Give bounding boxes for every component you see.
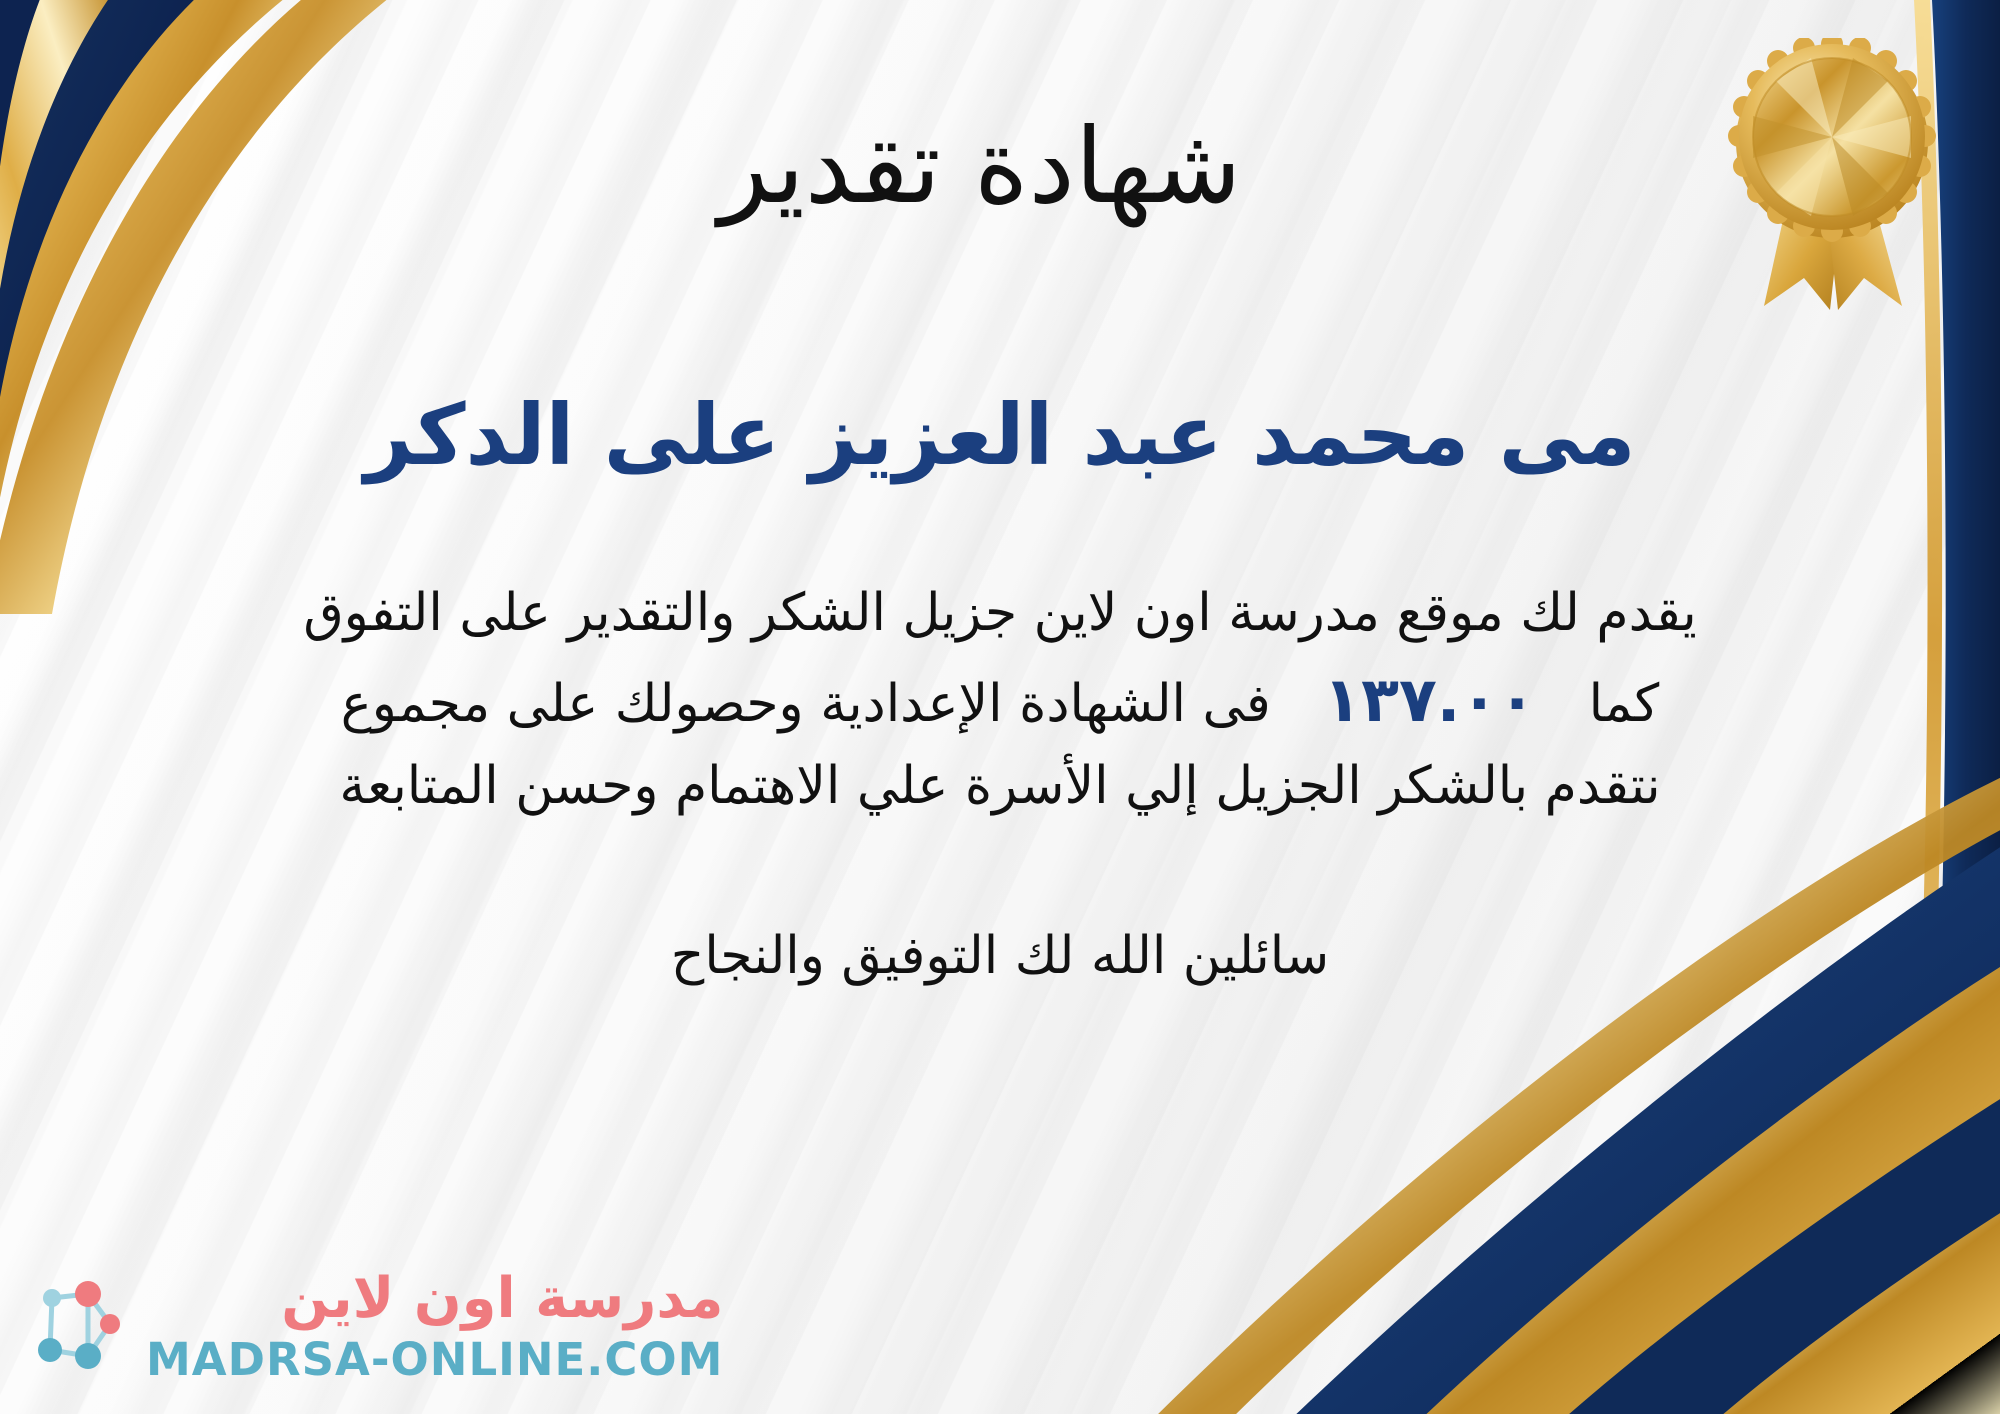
closing-line: سائلين الله لك التوفيق والنجاح xyxy=(0,926,2000,986)
gold-rosette-medal-icon xyxy=(1718,38,1948,322)
body-line-2-prefix: كما xyxy=(1589,674,1660,734)
page-title: شهادة تقدير xyxy=(0,112,2000,221)
body-line-2: كما ١٣٧.٠٠ فى الشهادة الإعدادية وحصولك ع… xyxy=(30,653,1970,747)
body-line-3: نتقدم بالشكر الجزيل إلي الأسرة علي الاهت… xyxy=(30,747,1970,826)
body-line-2-suffix: فى الشهادة الإعدادية وحصولك على مجموع xyxy=(341,674,1271,734)
grade-total-value: ١٣٧.٠٠ xyxy=(1287,663,1572,736)
brand-text: مدرسة اون لاين MADRSA-ONLINE.COM xyxy=(146,1271,723,1382)
certificate-content: شهادة تقدير مى محمد عبد العزيز على الدكر… xyxy=(0,0,2000,1414)
brand-website-url: MADRSA-ONLINE.COM xyxy=(146,1337,723,1382)
certificate-canvas: شهادة تقدير مى محمد عبد العزيز على الدكر… xyxy=(0,0,2000,1414)
recipient-name: مى محمد عبد العزيز على الدكر xyxy=(0,389,2000,481)
body-line-1: يقدم لك موقع مدرسة اون لاين جزيل الشكر و… xyxy=(30,574,1970,653)
brand-name-arabic: مدرسة اون لاين xyxy=(281,1271,723,1327)
body-text-block: يقدم لك موقع مدرسة اون لاين جزيل الشكر و… xyxy=(30,574,1970,826)
brand-logo[interactable]: مدرسة اون لاين MADRSA-ONLINE.COM xyxy=(26,1264,723,1388)
network-nodes-logo-icon xyxy=(26,1264,130,1388)
